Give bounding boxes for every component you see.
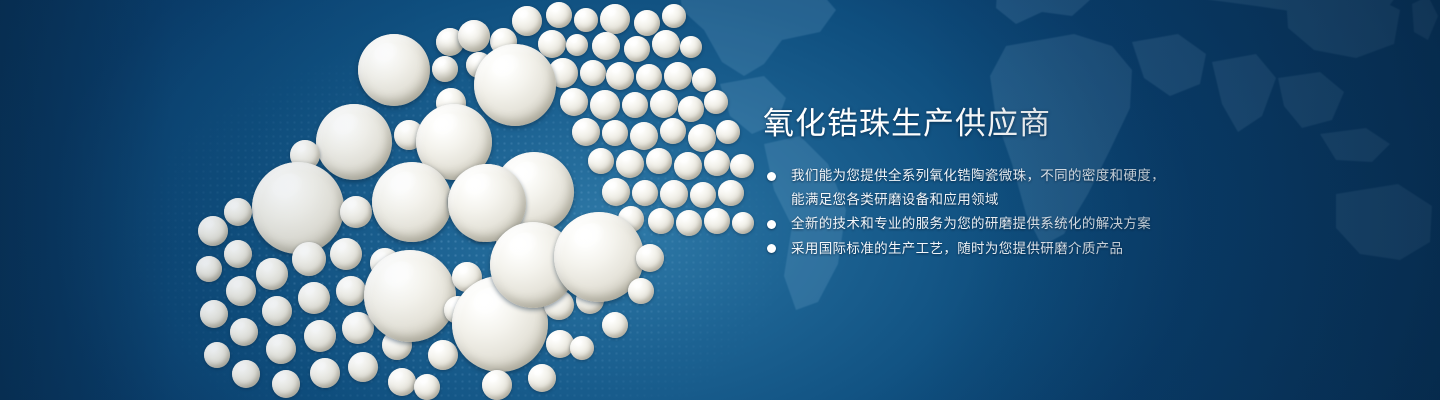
banner-vignette-overlay <box>0 0 1440 400</box>
hero-banner: 氧化锆珠生产供应商 我们能为您提供全系列氧化锆陶瓷微珠，不同的密度和硬度， 能满… <box>0 0 1440 400</box>
